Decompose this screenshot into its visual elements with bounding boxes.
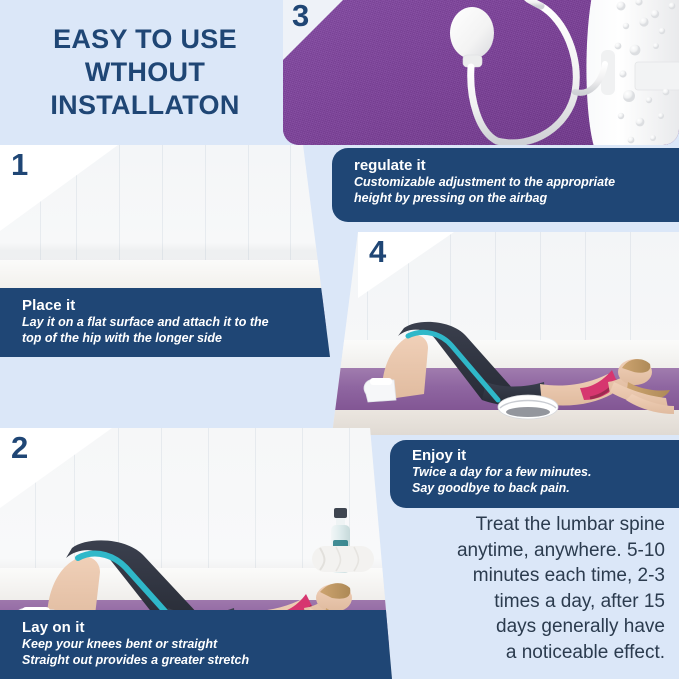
footer-line-4: times a day, after 15 (397, 589, 665, 614)
step-2-line-1: Keep your knees bent or straight (22, 637, 378, 652)
step-3-caption: regulate it Customizable adjustment to t… (332, 148, 679, 222)
step-panel-3: 3 (283, 0, 679, 145)
step-3-line-1: Customizable adjustment to the appropria… (354, 175, 667, 191)
woman-lying-illustration-4 (332, 232, 679, 435)
curtain-backdrop (0, 145, 330, 268)
step-panel-4: 4 (332, 232, 679, 435)
infographic-root: EASY TO USE WTHOUT INSTALLATON (0, 0, 679, 679)
footer-line-3: minutes each time, 2-3 (397, 563, 665, 588)
step-panel-2: Lay on it Keep your knees bent or straig… (0, 428, 392, 679)
title-line-2: WTHOUT (20, 56, 270, 89)
footer-line-1: Treat the lumbar spine (397, 512, 665, 537)
step-3-number: 3 (292, 0, 309, 34)
air-pump-illustration (283, 0, 679, 145)
footer-text: Treat the lumbar spine anytime, anywhere… (397, 512, 665, 665)
title-block: EASY TO USE WTHOUT INSTALLATON (0, 0, 290, 145)
page-title: EASY TO USE WTHOUT INSTALLATON (20, 23, 270, 122)
step-4-photo (332, 232, 679, 435)
step-4-heading: Enjoy it (412, 447, 667, 464)
step-1-line-2: top of the hip with the longer side (22, 331, 316, 346)
step-3-heading: regulate it (354, 157, 667, 174)
step-3-line-2: height by pressing on the airbag (354, 191, 667, 207)
title-line-1: EASY TO USE (20, 23, 270, 56)
step-4-line-1: Twice a day for a few minutes. (412, 465, 667, 481)
step-2-heading: Lay on it (22, 619, 378, 636)
footer-line-5: days generally have (397, 614, 665, 639)
title-line-3: INSTALLATON (20, 89, 270, 122)
step-4-caption: Enjoy it Twice a day for a few minutes. … (390, 440, 679, 508)
step-2-line-2: Straight out provides a greater stretch (22, 653, 378, 668)
step-1-heading: Place it (22, 297, 316, 314)
step-panel-1: Place it Lay it on a flat surface and at… (0, 145, 330, 357)
footer-line-6: a noticeable effect. (397, 640, 665, 665)
step-1-caption: Place it Lay it on a flat surface and at… (0, 288, 330, 357)
step-2-caption: Lay on it Keep your knees bent or straig… (0, 610, 392, 679)
footer-line-2: anytime, anywhere. 5-10 (397, 538, 665, 563)
step-1-line-1: Lay it on a flat surface and attach it t… (22, 315, 316, 330)
step-4-line-2: Say goodbye to back pain. (412, 481, 667, 497)
